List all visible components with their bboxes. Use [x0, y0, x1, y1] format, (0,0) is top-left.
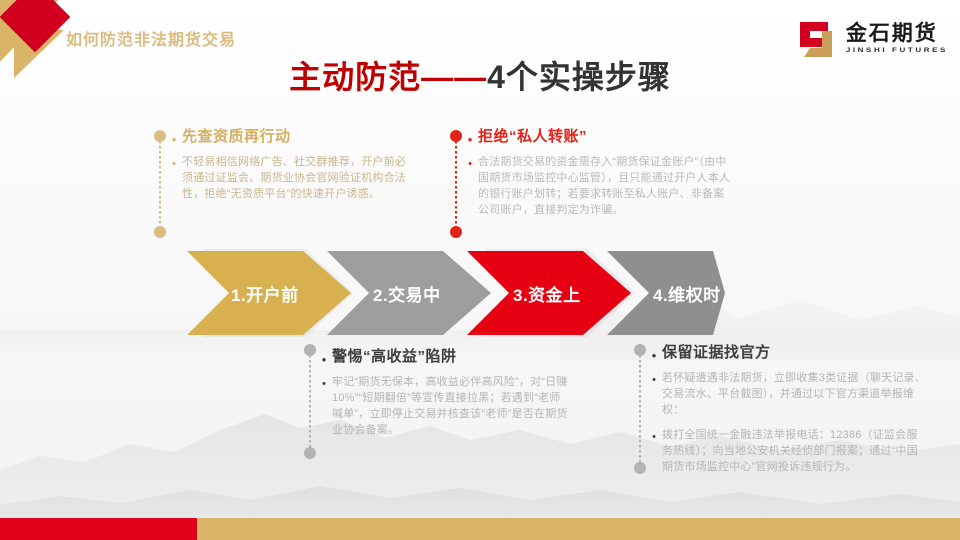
callout-block-3: • 警惕“高收益”陷阱 • 牢记“期货无保本，高收益必伴高风险”，对“日赚10%…: [316, 348, 568, 439]
bullet-icon: •: [646, 371, 662, 386]
connector-line-3: [304, 344, 316, 459]
connector-line-2: [450, 130, 462, 238]
callout-block-4: • 保留证据找官方 • 若怀疑遭遇非法期货，立即收集3类证据（聊天记录、交易流水…: [646, 344, 928, 476]
connector-dashed-line: [639, 350, 641, 468]
callout-heading: 警惕“高收益”陷阱: [332, 348, 457, 366]
bullet-icon: •: [166, 155, 182, 170]
callout-heading-row: • 保留证据找官方: [646, 344, 928, 362]
bullet-icon: •: [316, 375, 332, 390]
footer-bar-gold: [197, 518, 960, 540]
logo-wordmark: 金石期货 JINSHI FUTURES: [846, 23, 948, 55]
callout-heading-row: • 拒绝“私人转账”: [462, 128, 734, 146]
callout-heading: 先查资质再行动: [182, 128, 291, 146]
connector-line-1: [154, 130, 166, 238]
callout-paragraph: 牢记“期货无保本，高收益必伴高风险”，对“日赚10%”“短期翻倍”等宣传直接拉黑…: [332, 375, 568, 439]
connector-dashed-line: [309, 350, 311, 453]
bullet-icon: •: [316, 348, 332, 366]
callout-body-row: • 若怀疑遭遇非法期货，立即收集3类证据（聊天记录、交易流水、平台截图），并通过…: [646, 371, 928, 419]
chevron-shapes: [185, 243, 725, 343]
page-title: 主动防范——4个实操步骤: [0, 52, 960, 98]
process-chevron-band: 1.开户前 2.交易中 3.资金上 4.维权时: [185, 243, 725, 343]
header-kicker: 如何防范非法期货交易: [66, 26, 236, 50]
callout-paragraph: 拨打全国统一金融违法举报电话：12386（证监会服务热线）；向当地公安机关经侦部…: [662, 428, 928, 476]
callout-body-row: • 拨打全国统一金融违法举报电话：12386（证监会服务热线）；向当地公安机关经…: [646, 428, 928, 476]
callout-body-row: • 不轻易相信网络广告、社交群推荐，开户前必须通过证监会、期货业协会官网验证机构…: [166, 155, 416, 203]
connector-dot-bottom: [154, 226, 166, 238]
logo-name-cn: 金石期货: [846, 23, 948, 44]
callout-block-2: • 拒绝“私人转账” • 合法期货交易的资金需存入“期货保证金账户”（由中国期货…: [462, 128, 734, 219]
chevron-step-1: [187, 251, 351, 335]
footer-bar-red: [0, 518, 197, 540]
connector-dot-bottom: [450, 226, 462, 238]
page-title-red: 主动防范——: [289, 59, 487, 95]
callout-paragraph: 若怀疑遭遇非法期货，立即收集3类证据（聊天记录、交易流水、平台截图），并通过以下…: [662, 371, 928, 419]
callout-heading-row: • 先查资质再行动: [166, 128, 416, 146]
bullet-icon: •: [462, 128, 478, 146]
bullet-icon: •: [646, 428, 662, 443]
bullet-icon: •: [166, 128, 182, 146]
connector-line-4: [634, 344, 646, 474]
callout-paragraph: 合法期货交易的资金需存入“期货保证金账户”（由中国期货市场监控中心监管），且只能…: [478, 155, 734, 219]
bullet-icon: •: [462, 155, 478, 170]
callout-heading: 拒绝“私人转账”: [478, 128, 587, 146]
chevron-step-3: [467, 251, 631, 335]
slide-canvas: 如何防范非法期货交易 金石期货 JINSHI FUTURES 主动防范——4个实…: [0, 0, 960, 540]
callout-body-row: • 合法期货交易的资金需存入“期货保证金账户”（由中国期货市场监控中心监管），且…: [462, 155, 734, 219]
connector-dot-bottom: [304, 447, 316, 459]
footer-bar: [0, 518, 960, 540]
callout-paragraph: 不轻易相信网络广告、社交群推荐，开户前必须通过证监会、期货业协会官网验证机构合法…: [182, 155, 416, 203]
callout-body-row: • 牢记“期货无保本，高收益必伴高风险”，对“日赚10%”“短期翻倍”等宣传直接…: [316, 375, 568, 439]
connector-dashed-line: [455, 136, 457, 232]
connector-dashed-line: [159, 136, 161, 232]
page-title-dark: 4个实操步骤: [487, 59, 671, 95]
callout-heading: 保留证据找官方: [662, 344, 771, 362]
connector-dot-bottom: [634, 462, 646, 474]
callout-block-1: • 先查资质再行动 • 不轻易相信网络广告、社交群推荐，开户前必须通过证监会、期…: [166, 128, 416, 203]
bullet-icon: •: [646, 344, 662, 362]
callout-heading-row: • 警惕“高收益”陷阱: [316, 348, 568, 366]
